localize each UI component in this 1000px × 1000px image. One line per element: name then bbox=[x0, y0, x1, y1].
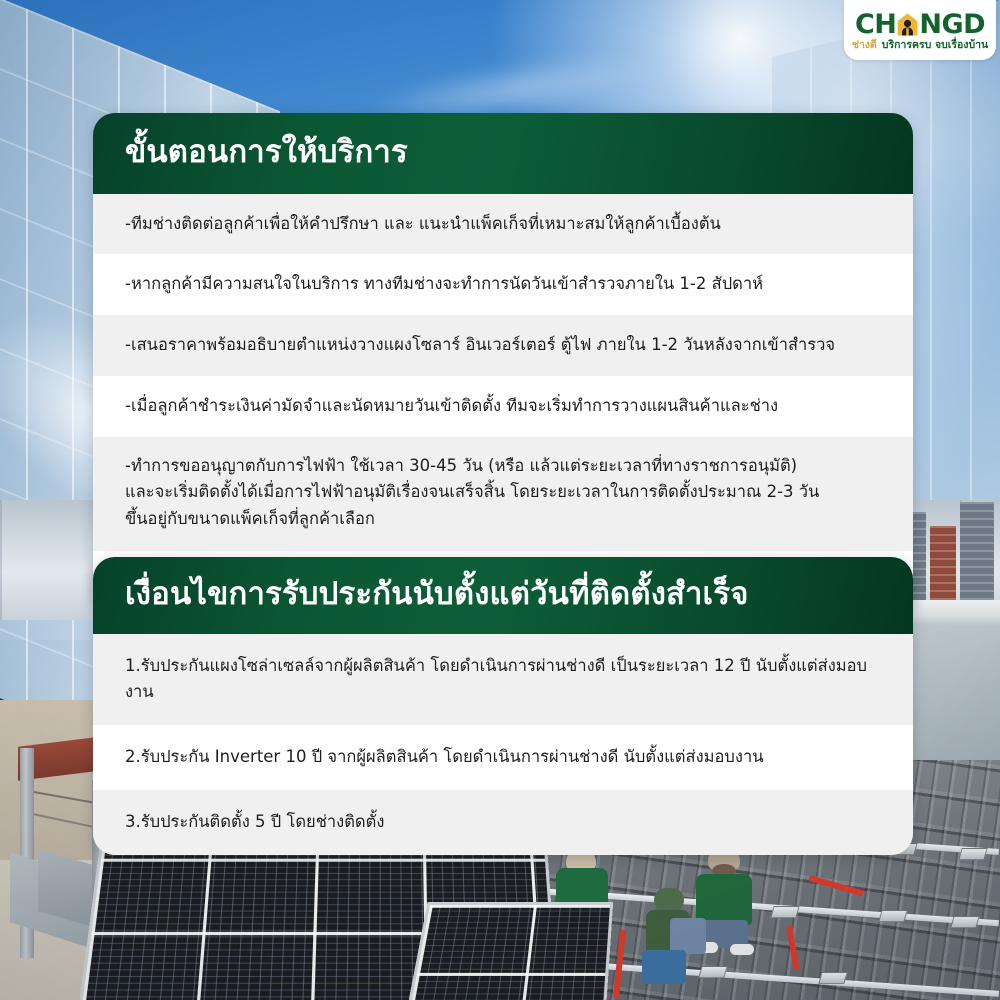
service-steps-title: ขั้นตอนการให้บริการ bbox=[125, 135, 881, 170]
warranty-item: 1.รับประกันแผงโซล่าเซลล์จากผู้ผลิตสินค้า… bbox=[93, 634, 913, 725]
house-with-worker-icon bbox=[897, 13, 918, 36]
roof-mount-block bbox=[818, 972, 847, 984]
logo-wordmark: CH NGD bbox=[855, 11, 985, 38]
worker-seated bbox=[640, 888, 706, 992]
warranty-terms-title: เงื่อนไขการรับประกันนับตั้งแต่วันที่ติดต… bbox=[125, 577, 881, 612]
warranty-terms-header: เงื่อนไขการรับประกันนับตั้งแต่วันที่ติดต… bbox=[93, 557, 913, 634]
logo-word-part2: NGD bbox=[919, 11, 985, 38]
roof-mount-block bbox=[878, 910, 907, 922]
service-steps-card: ขั้นตอนการให้บริการ -ทีมช่างติดต่อลูกค้า… bbox=[93, 113, 913, 611]
warranty-item: 2.รับประกัน Inverter 10 ปี จากผู้ผลิตสิน… bbox=[93, 725, 913, 790]
roof-mount-block bbox=[958, 848, 987, 860]
worker-shoe bbox=[730, 944, 754, 955]
worker-jeans bbox=[670, 918, 706, 954]
service-step-item: -ทีมช่างติดต่อลูกค้าเพื่อให้คำปรึกษา และ… bbox=[93, 194, 913, 255]
warranty-item: 3.รับประกันติดตั้ง 5 ปี โดยช่างติดตั้ง bbox=[93, 790, 913, 855]
worker-camo-hood bbox=[654, 888, 684, 912]
service-step-item: -หากลูกค้ามีความสนใจในบริการ ทางทีมช่างจ… bbox=[93, 254, 913, 315]
tagline-rest: บริการครบ จบเรื่องบ้าน bbox=[882, 40, 988, 51]
logo-word-part1: CH bbox=[855, 11, 896, 38]
roof-mount-block bbox=[770, 906, 799, 918]
solar-cells bbox=[409, 905, 610, 1000]
brand-logo[interactable]: CH NGD ช่างดี บริการครบ จบเรื่องบ้าน bbox=[844, 0, 996, 60]
service-steps-header: ขั้นตอนการให้บริการ bbox=[93, 113, 913, 194]
logo-tagline: ช่างดี บริการครบ จบเรื่องบ้าน bbox=[852, 40, 988, 51]
warranty-terms-card: เงื่อนไขการรับประกันนับตั้งแต่วันที่ติดต… bbox=[93, 557, 913, 855]
service-step-item: -เสนอราคาพร้อมอธิบายตำแหน่งวางแผงโซลาร์ … bbox=[93, 315, 913, 376]
service-step-item: -เมื่อลูกค้าชำระเงินค่ามัดจำและนัดหมายวั… bbox=[93, 376, 913, 437]
tagline-brand: ช่างดี bbox=[852, 40, 877, 51]
warranty-terms-list: 1.รับประกันแผงโซล่าเซลล์จากผู้ผลิตสินค้า… bbox=[93, 634, 913, 855]
solar-panel-array-secondary bbox=[409, 905, 610, 1000]
roof-mount-block bbox=[950, 916, 979, 928]
worker-jeans-lower bbox=[642, 950, 686, 984]
service-step-item: -ทำการขออนุญาตกับการไฟฟ้า ใช้เวลา 30-45 … bbox=[93, 437, 913, 551]
infographic-canvas: CH NGD ช่างดี บริการครบ จบเรื่องบ้าน ขั้… bbox=[0, 0, 1000, 1000]
service-steps-list: -ทีมช่างติดต่อลูกค้าเพื่อให้คำปรึกษา และ… bbox=[93, 194, 913, 612]
